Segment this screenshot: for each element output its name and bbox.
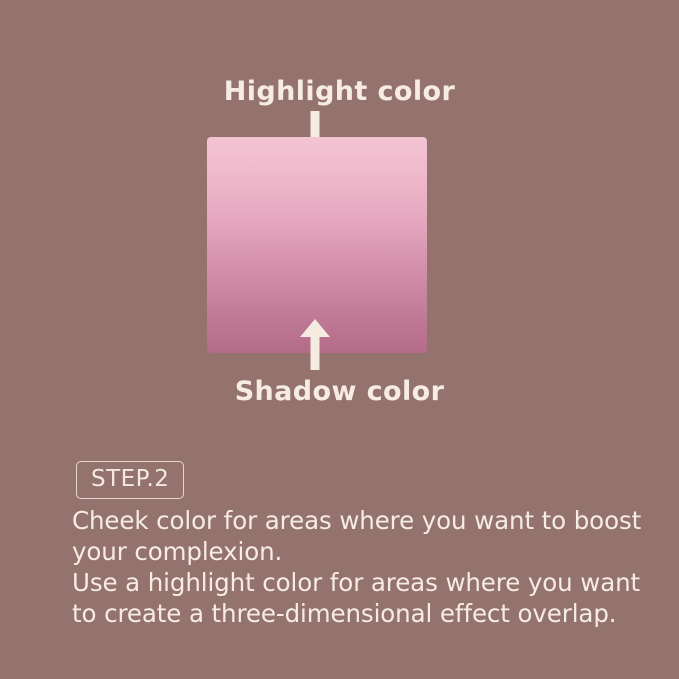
description-line: Use a highlight color for areas where yo…	[72, 567, 632, 598]
shadow-color-label: Shadow color	[0, 376, 679, 407]
description-line: to create a three-dimensional effect ove…	[72, 598, 632, 629]
description-line: Cheek color for areas where you want to …	[72, 505, 632, 536]
arrow-up-icon	[297, 318, 333, 370]
highlight-color-label: Highlight color	[0, 76, 679, 107]
step-badge: STEP.2	[76, 461, 184, 499]
description-line: your complexion.	[72, 536, 632, 567]
instruction-graphic: Highlight color Shadow color STEP.2 Chee…	[0, 0, 679, 679]
step-description: Cheek color for areas where you want to …	[72, 505, 632, 629]
